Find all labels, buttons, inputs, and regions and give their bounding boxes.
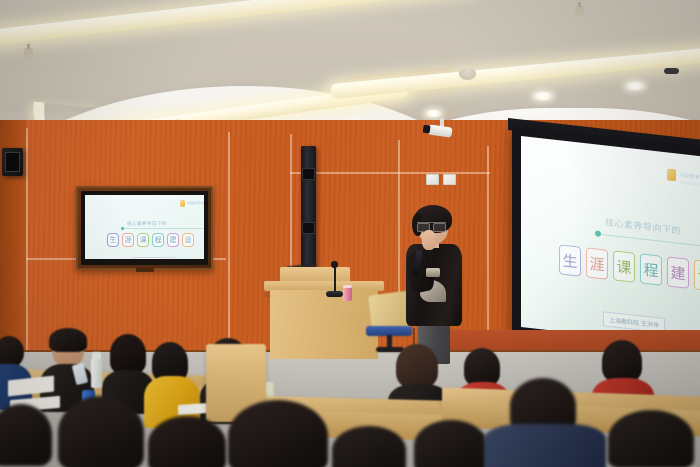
sprinkler-head: [575, 6, 584, 17]
smoke-detector-icon: [664, 68, 679, 74]
person-head: [396, 344, 438, 388]
slide-logo-icon: [180, 200, 185, 207]
column-speaker-icon: [301, 146, 316, 271]
smoke-detector-icon: [459, 68, 476, 80]
ceiling-downlight: [625, 82, 645, 90]
microphone-base: [326, 291, 343, 297]
slide-subtitle-box: 上海教科院 王洪伟: [133, 257, 175, 259]
person-head: [110, 334, 146, 374]
person-head: [602, 340, 642, 382]
slide-char-box: 课: [137, 233, 149, 247]
slide-char-box: 设: [694, 259, 700, 291]
lecture-hall-photo: 中国教育科学研究院 核心素养导向下的 生 涯 课 程 建 设 上海教科院 王洪伟: [0, 0, 700, 467]
slide-character-boxes: 生 涯 课 程 建 设: [107, 233, 194, 247]
person-head: [332, 426, 406, 467]
person-head: [228, 400, 328, 467]
slide-char-box: 程: [152, 233, 164, 247]
person-head: [414, 420, 488, 467]
ceiling-downlight: [533, 92, 553, 100]
pink-tumbler: [343, 286, 352, 301]
person-head: [464, 348, 500, 386]
slide-char-box: 建: [167, 233, 179, 247]
wall-display: 中国教育科学研究院 核心素养导向下的 生 涯 课 程 建 设 上海教科院 王洪伟: [76, 186, 213, 270]
person-head: [148, 416, 226, 467]
slide-char-box: 涯: [586, 247, 608, 279]
wall-plate: [426, 174, 439, 185]
person-hair: [49, 328, 87, 352]
wall-speaker-icon: [2, 148, 23, 176]
wall-panel-seam: [487, 146, 489, 336]
slide-char-box: 设: [182, 233, 194, 247]
ceiling-downlight: [425, 110, 442, 117]
slide-rule: [599, 234, 700, 248]
person-body: [484, 424, 606, 467]
slide-logo-text: 中国教育科学研究院: [187, 201, 204, 205]
display-stand: [136, 268, 154, 272]
papers: [178, 403, 208, 415]
slide-logo-subtext: 中国教育科学研究院: [680, 180, 700, 190]
presenter-hand: [422, 230, 436, 250]
projected-slide: 中国教育科学研究院 中国教育科学研究院 核心素养导向下的 生 涯 课 程 建 设…: [521, 136, 700, 349]
slide-rule: [123, 228, 203, 229]
wall-panel-seam: [228, 132, 230, 347]
wall-panel-seam: [290, 172, 490, 174]
display-bezel: 中国教育科学研究院 核心素养导向下的 生 涯 课 程 建 设 上海教科院 王洪伟: [81, 191, 208, 265]
sprinkler-head: [24, 48, 33, 59]
person-head: [608, 410, 694, 467]
projection-screen: 中国教育科学研究院 中国教育科学研究院 核心素养导向下的 生 涯 课 程 建 设…: [512, 126, 700, 361]
glasses-icon: [417, 222, 446, 229]
water-bottle: [91, 358, 102, 388]
slide-dot: [595, 230, 601, 237]
display-screen: 中国教育科学研究院 核心素养导向下的 生 涯 课 程 建 设 上海教科院 王洪伟: [85, 195, 204, 259]
slide-char-box: 建: [667, 256, 689, 288]
slide-title-small: 核心素养导向下的: [127, 221, 167, 227]
slide-char-box: 涯: [122, 233, 134, 247]
slide-char-box: 程: [640, 253, 662, 285]
slide-dot: [121, 227, 124, 230]
wristwatch: [426, 268, 440, 277]
speaker-grill: [302, 168, 315, 180]
presenter: [398, 208, 476, 360]
slide-char-box: 生: [559, 244, 581, 276]
podium-body: [270, 290, 378, 359]
wall-plate: [443, 174, 456, 185]
slide-logo-icon: [667, 168, 676, 181]
slide-char-box: 生: [107, 233, 119, 247]
speaker-grill: [302, 222, 315, 234]
bottle-cap: [92, 352, 101, 359]
slide-char-box: 课: [613, 250, 635, 282]
wall-panel-seam: [26, 128, 28, 368]
slide-character-boxes: 生 涯 课 程 建 设: [559, 244, 700, 292]
gooseneck-microphone: [334, 264, 336, 294]
slide-title: 核心素养导向下的: [605, 215, 681, 237]
person-head: [58, 396, 144, 467]
